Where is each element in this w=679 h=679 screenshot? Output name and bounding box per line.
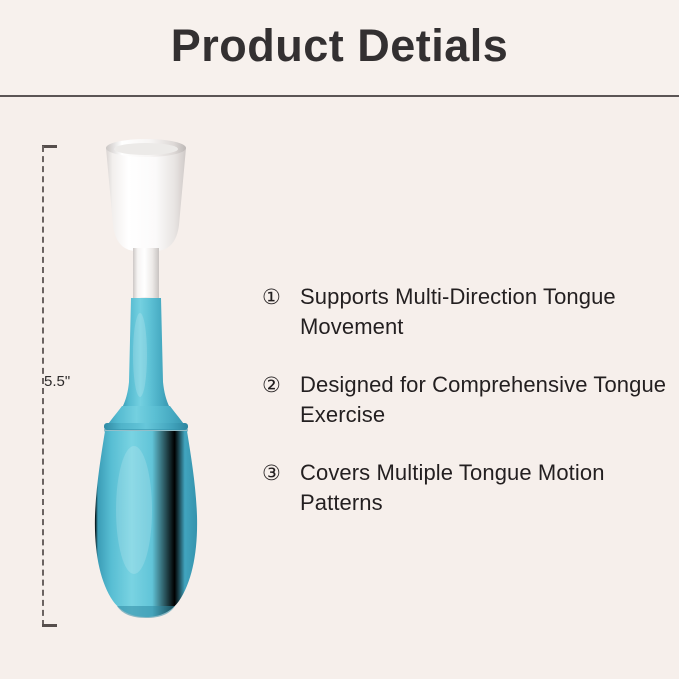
- feature-text-2: Designed for Comprehensive Tongue Exerci…: [300, 372, 666, 427]
- feature-text-1: Supports Multi-Direction Tongue Movement: [300, 284, 616, 339]
- page-header: Product Detials: [0, 0, 679, 96]
- funnel-neck: [133, 248, 159, 301]
- feature-number-icon-2: ②: [262, 370, 281, 400]
- feature-number-icon-1: ①: [262, 282, 281, 312]
- dimension-tick-top-icon: [42, 145, 57, 148]
- product-shaft-highlight: [133, 313, 147, 397]
- page-title: Product Detials: [0, 20, 679, 72]
- feature-text-3: Covers Multiple Tongue Motion Patterns: [300, 460, 605, 515]
- product-highlight: [116, 446, 152, 574]
- funnel-bowl: [106, 148, 186, 251]
- feature-list: ① Supports Multi-Direction Tongue Moveme…: [262, 282, 672, 518]
- product-collar: [104, 423, 188, 430]
- product-details-page: Product Detials 5.5": [0, 0, 679, 679]
- feature-item-1: ① Supports Multi-Direction Tongue Moveme…: [262, 282, 672, 342]
- header-divider: [0, 95, 679, 97]
- funnel-rim-inner: [114, 143, 178, 155]
- dimension-tick-bottom-icon: [42, 624, 57, 627]
- feature-item-2: ② Designed for Comprehensive Tongue Exer…: [262, 370, 672, 430]
- feature-item-3: ③ Covers Multiple Tongue Motion Patterns: [262, 458, 672, 518]
- product-image: [60, 120, 260, 640]
- feature-number-icon-3: ③: [262, 458, 281, 488]
- product-bulb-base: [117, 606, 175, 618]
